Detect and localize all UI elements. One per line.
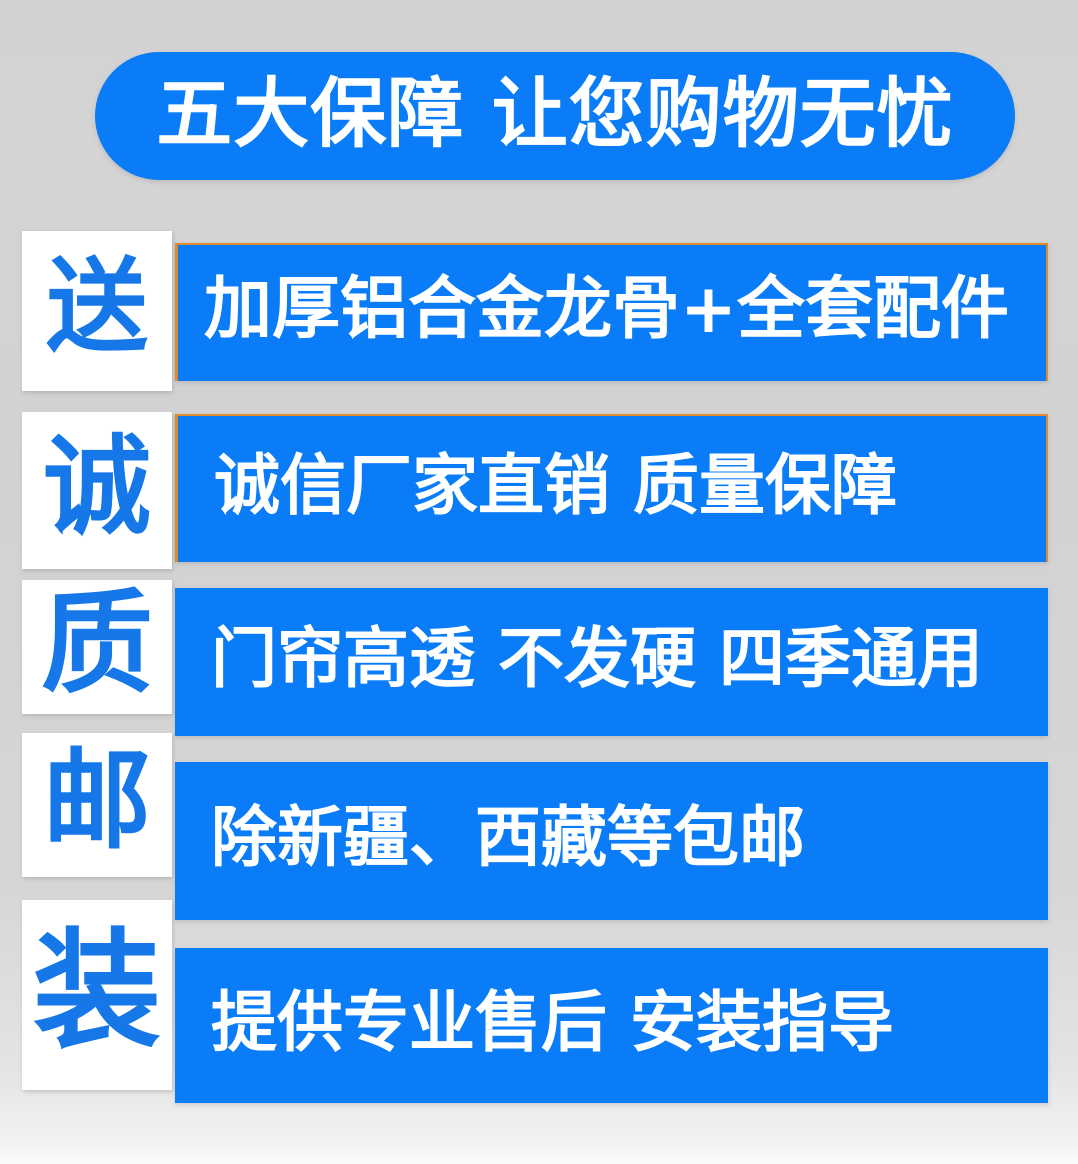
feature-bar-1: 加厚铝合金龙骨+全套配件	[175, 243, 1048, 381]
feature-badge-1: 送	[22, 231, 172, 391]
badge-character: 诚	[43, 434, 151, 542]
feature-text: 加厚铝合金龙骨+全套配件	[178, 276, 1009, 344]
badge-character: 送	[46, 257, 148, 359]
badge-character: 邮	[43, 748, 151, 856]
feature-badge-5: 装	[22, 900, 172, 1090]
feature-bar-2: 诚信厂家直销 质量保障	[175, 414, 1048, 562]
badge-character: 质	[41, 588, 153, 700]
badge-character: 装	[33, 928, 161, 1056]
feature-bar-5: 提供专业售后 安装指导	[175, 948, 1048, 1103]
page-title: 五大保障 让您购物无忧	[156, 76, 953, 152]
feature-text: 提供专业售后 安装指导	[175, 990, 894, 1056]
feature-badge-4: 邮	[22, 733, 172, 877]
feature-text: 诚信厂家直销 质量保障	[178, 453, 897, 519]
feature-bar-4: 除新疆、西藏等包邮	[175, 762, 1048, 920]
feature-bar-3: 门帘高透 不发硬 四季通用	[175, 588, 1048, 736]
promo-banner: 五大保障 让您购物无忧 送 加厚铝合金龙骨+全套配件 诚 诚信厂家直销 质量保障…	[0, 0, 1078, 1164]
header-pill: 五大保障 让您购物无忧	[95, 52, 1015, 180]
feature-text: 除新疆、西藏等包邮	[175, 805, 805, 871]
feature-badge-2: 诚	[22, 412, 172, 569]
feature-badge-3: 质	[22, 580, 172, 714]
feature-text: 门帘高透 不发硬 四季通用	[175, 626, 983, 692]
